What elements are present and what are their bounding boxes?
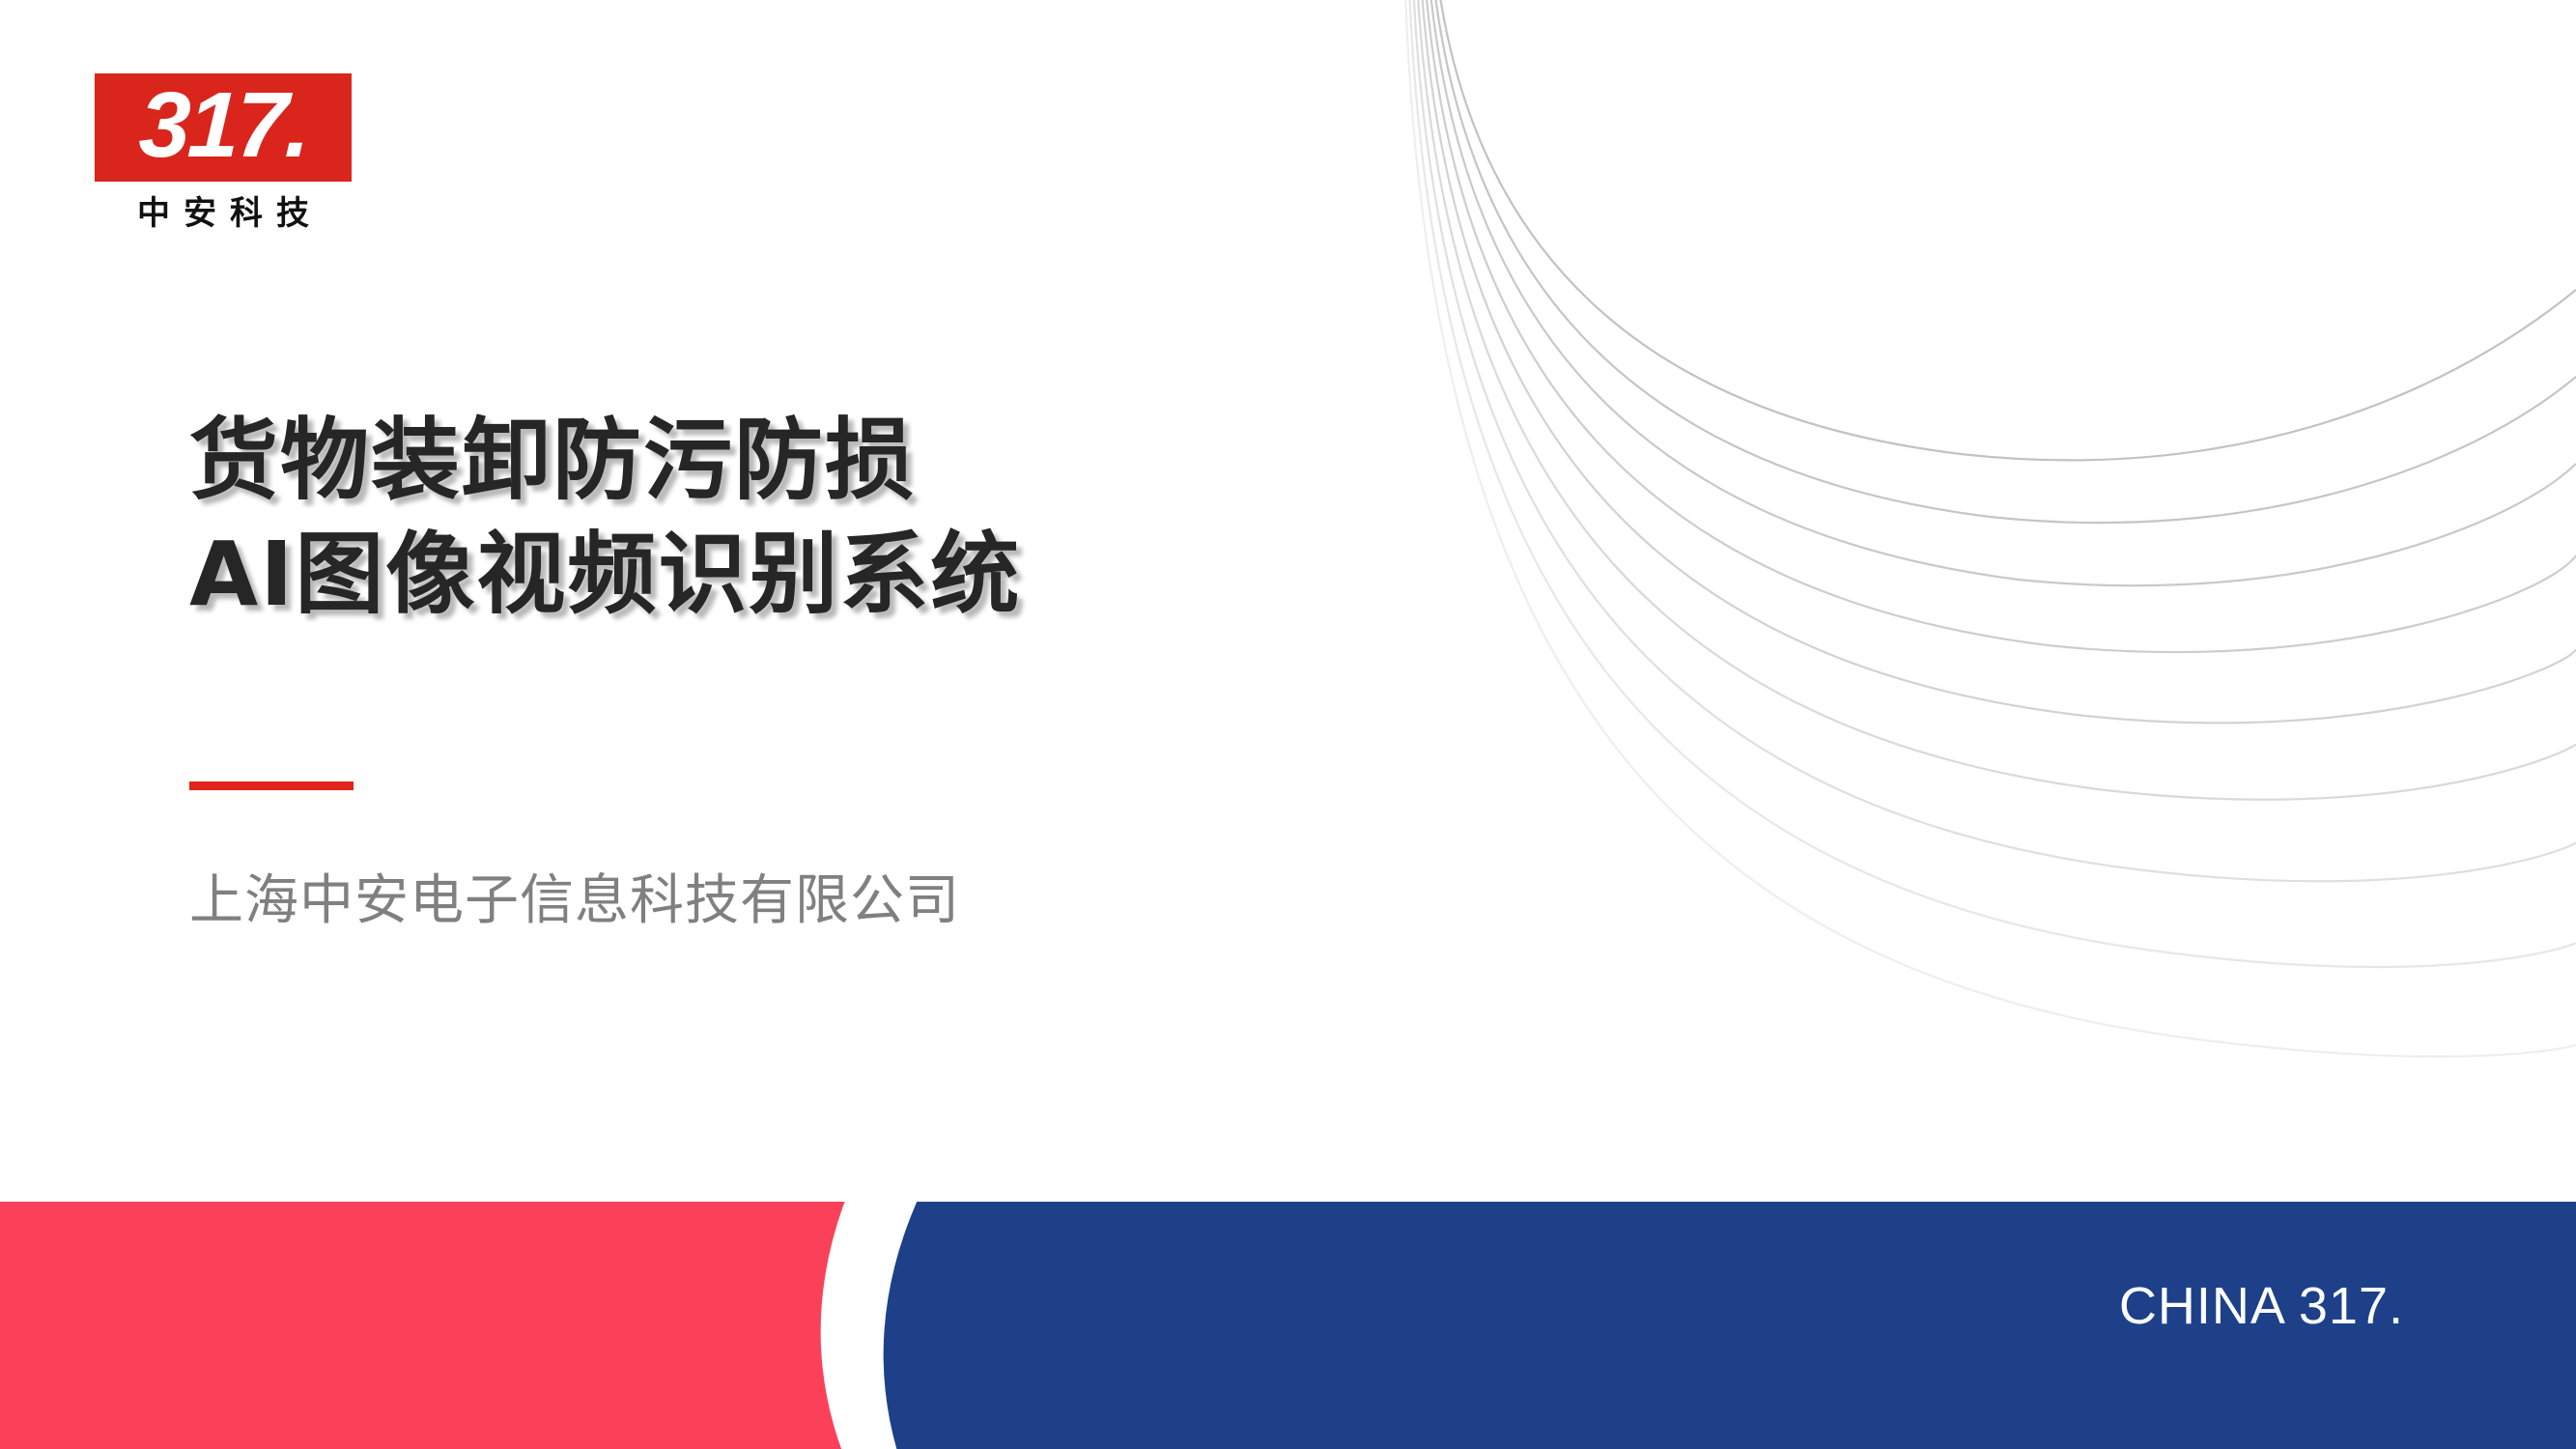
page-title: 货物装卸防污防损 AI图像视频识别系统 — [189, 404, 1542, 632]
title-accent-rule — [189, 781, 354, 790]
banner-brand-text: CHINA 317. — [2119, 1277, 2404, 1335]
subtitle-company-name: 上海中安电子信息科技有限公司 — [189, 867, 960, 935]
logo-company-short: 中安科技 — [95, 195, 352, 232]
logo-mark-text: 317. — [137, 79, 309, 172]
logo: 317. 中安科技 — [95, 73, 352, 232]
bottom-banner: CHINA 317. — [0, 1202, 2576, 1449]
logo-mark: 317. — [95, 73, 352, 182]
title-slide: 317. 中安科技 货物装卸防污防损 AI图像视频识别系统 上海中安电子信息科技… — [0, 0, 2576, 1449]
headline-line-1: 货物装卸防污防损 — [189, 404, 1542, 518]
headline-line-2: AI图像视频识别系统 — [189, 518, 1542, 632]
